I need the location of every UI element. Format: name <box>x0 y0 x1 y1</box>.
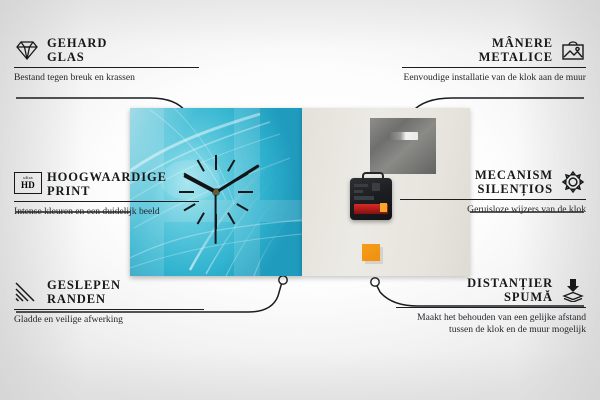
callout-divider <box>400 199 586 200</box>
callout-title: GEHARDGLAS <box>47 36 107 64</box>
callout-mecanism-silentios: MECANISMSILENȚIOS Geruisloze wijzers van… <box>400 168 586 216</box>
callout-description: Geruisloze wijzers van de klok <box>400 204 586 216</box>
hanger-slot <box>388 132 418 140</box>
callout-divider <box>14 309 204 310</box>
clock-second-hand <box>215 192 217 244</box>
movement-stem <box>362 172 384 182</box>
callout-divider <box>14 67 199 68</box>
callout-title: GESLEPENRANDEN <box>47 278 121 306</box>
battery-terminal <box>380 203 387 212</box>
callout-header: GESLEPENRANDEN <box>14 278 204 306</box>
picture-frame-icon <box>560 38 586 62</box>
metal-hanger-plate <box>370 118 436 174</box>
callout-description: Bestand tegen breuk en krassen <box>14 72 199 84</box>
callout-gehard-glas: GEHARDGLAS Bestand tegen breuk en krasse… <box>14 36 199 84</box>
spacer-layers-icon <box>560 278 586 302</box>
ultra-hd-icon: ultraHD <box>14 172 40 196</box>
clock-center-pin <box>213 189 219 195</box>
movement-detail <box>372 183 380 191</box>
movement-detail <box>354 184 368 187</box>
callout-description: Maakt het behouden van een gelijke afsta… <box>396 312 586 335</box>
clock-movement <box>350 178 392 220</box>
callout-header: GEHARDGLAS <box>14 36 199 64</box>
callout-header: MÂNEREMETALICE <box>402 36 586 64</box>
callout-hoogwaardige-print: ultraHD HOOGWAARDIGEPRINT Intense kleure… <box>14 170 199 218</box>
callout-header: ultraHD HOOGWAARDIGEPRINT <box>14 170 199 198</box>
movement-detail <box>354 190 363 193</box>
beveled-edges-icon <box>14 280 40 304</box>
movement-detail <box>354 196 374 200</box>
callout-divider <box>402 67 586 68</box>
callout-divider <box>396 307 586 308</box>
callout-title: MECANISMSILENȚIOS <box>475 168 553 196</box>
infographic-canvas: GEHARDGLAS Bestand tegen breuk en krasse… <box>0 0 600 400</box>
callout-title: DISTANȚIERSPUMĂ <box>467 276 553 304</box>
callout-divider <box>14 201 199 202</box>
diamond-icon <box>14 38 40 62</box>
callout-manere-metalice: MÂNEREMETALICE Eenvoudige installatie va… <box>402 36 586 84</box>
callout-title: MÂNEREMETALICE <box>479 36 553 64</box>
callout-header: DISTANȚIERSPUMĂ <box>396 276 586 304</box>
callout-distantier-spuma: DISTANȚIERSPUMĂ Maakt het behouden van e… <box>396 276 586 335</box>
callout-title: HOOGWAARDIGEPRINT <box>47 170 167 198</box>
foam-spacer <box>362 244 380 261</box>
callout-description: Gladde en veilige afwerking <box>14 314 204 326</box>
callout-description: Intense kleuren en een duidelijk beeld <box>14 206 199 218</box>
connector-dot-3 <box>279 276 287 284</box>
callout-header: MECANISMSILENȚIOS <box>400 168 586 196</box>
callout-description: Eenvoudige installatie van de klok aan d… <box>402 72 586 84</box>
connector-dot-6 <box>371 278 379 286</box>
callout-geslepen-randen: GESLEPENRANDEN Gladde en veilige afwerki… <box>14 278 204 326</box>
gear-icon <box>560 170 586 194</box>
